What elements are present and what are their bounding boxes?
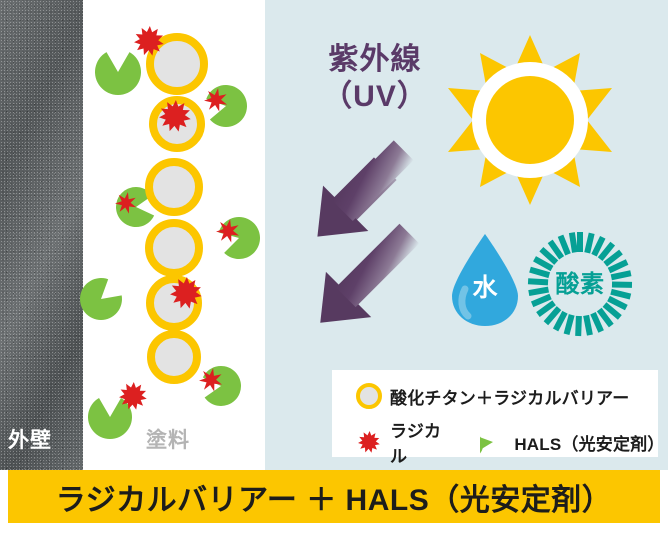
hals-pacman-icon	[80, 278, 122, 320]
tio2-circle-icon	[356, 383, 382, 409]
hals-pacman-icon	[95, 52, 141, 95]
tio2-circle-icon	[151, 334, 197, 380]
hals-pacman-icon	[88, 398, 132, 439]
hals-pacman-icon	[480, 429, 506, 455]
legend-item-tio2: 酸化チタン＋ラジカルバリアー	[356, 383, 629, 409]
diagram-canvas: 外壁 塗料 紫外線 （UV）	[0, 0, 668, 534]
tio2-circle-icon	[149, 223, 199, 273]
banner-text: ラジカルバリアー ＋ HALS（光安定剤）	[56, 475, 612, 519]
hals-pacman-icon	[219, 217, 260, 259]
legend-label-hals: HALS（光安定剤）	[514, 430, 658, 455]
bottom-banner: ラジカルバリアー ＋ HALS（光安定剤）	[8, 470, 660, 523]
legend-box: 酸化チタン＋ラジカルバリアー ラジカル HALS（光安定剤）	[332, 370, 658, 457]
legend-label-radical: ラジカル	[390, 417, 455, 467]
radical-starburst-icon	[356, 429, 382, 455]
tio2-circle-icon	[149, 162, 199, 212]
legend-item-radical-hals: ラジカル HALS（光安定剤）	[356, 417, 658, 467]
legend-label-tio2: 酸化チタン＋ラジカルバリアー	[390, 384, 629, 409]
